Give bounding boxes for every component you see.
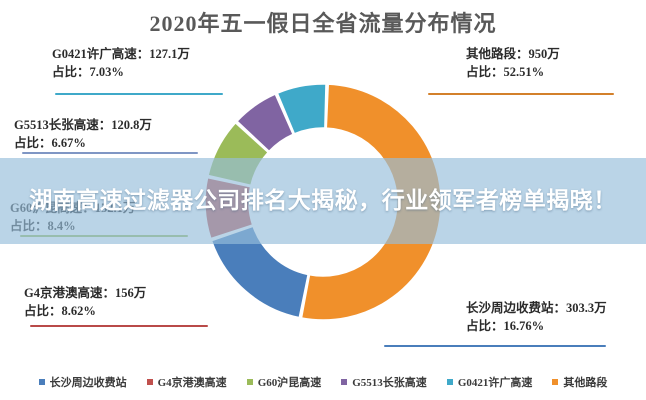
callout-changsha-percent: 占比：16.76% (466, 318, 607, 336)
legend-item[interactable]: 其他路段 (552, 374, 607, 390)
legend-item[interactable]: G4京港澳高速 (147, 374, 227, 390)
legend-item[interactable]: G0421许广高速 (447, 374, 533, 390)
legend-swatch-icon (341, 379, 347, 385)
page-title: 2020年五一假日全省流量分布情况 (0, 6, 646, 38)
chart-legend: 长沙周边收费站G4京港澳高速G60沪昆高速G5513长张高速G0421许广高速其… (0, 374, 646, 390)
callout-changsha-value: 长沙周边收费站：303.3万 (466, 300, 607, 318)
legend-item-label: G60沪昆高速 (258, 374, 322, 390)
legend-item-label: G5513长张高速 (352, 374, 427, 390)
leader-line-g0421 (55, 93, 223, 95)
legend-swatch-icon (447, 379, 453, 385)
leader-line-g4 (30, 325, 208, 327)
callout-g4: G4京港澳高速：156万 占比：8.62% (24, 285, 146, 321)
callout-g0421: G0421许广高速：127.1万 占比：7.03% (52, 46, 190, 82)
legend-item-label: G4京港澳高速 (158, 374, 227, 390)
legend-item-label: 长沙周边收费站 (50, 374, 127, 390)
overlay-banner: 湖南高速过滤器公司排名大揭秘，行业领军者榜单揭晓！ (0, 158, 646, 244)
callout-other-percent: 占比：52.51% (466, 64, 560, 82)
callout-g5513: G5513长张高速：120.8万 占比：6.67% (14, 117, 152, 153)
legend-swatch-icon (552, 379, 558, 385)
callout-g5513-value: G5513长张高速：120.8万 (14, 117, 152, 135)
callout-g0421-value: G0421许广高速：127.1万 (52, 46, 190, 64)
callout-g4-value: G4京港澳高速：156万 (24, 285, 146, 303)
legend-swatch-icon (39, 379, 45, 385)
legend-item[interactable]: 长沙周边收费站 (39, 374, 127, 390)
callout-g4-percent: 占比：8.62% (24, 303, 146, 321)
legend-swatch-icon (247, 379, 253, 385)
overlay-banner-text: 湖南高速过滤器公司排名大揭秘，行业领军者榜单揭晓！ (23, 186, 623, 216)
leader-line-g5513 (22, 152, 198, 154)
callout-other: 其他路段：950万 占比：52.51% (466, 46, 560, 82)
leader-line-changsha (384, 345, 606, 347)
chart-screenshot: 2020年五一假日全省流量分布情况 G0421许广高速：127.1万 占比：7.… (0, 0, 646, 400)
legend-item[interactable]: G60沪昆高速 (247, 374, 322, 390)
legend-swatch-icon (147, 379, 153, 385)
callout-g5513-percent: 占比：6.67% (14, 135, 152, 153)
callout-changsha: 长沙周边收费站：303.3万 占比：16.76% (466, 300, 607, 336)
leader-line-other (428, 93, 614, 95)
callout-other-value: 其他路段：950万 (466, 46, 560, 64)
legend-item[interactable]: G5513长张高速 (341, 374, 427, 390)
callout-g0421-percent: 占比：7.03% (52, 64, 190, 82)
legend-item-label: 其他路段 (563, 374, 607, 390)
legend-item-label: G0421许广高速 (458, 374, 533, 390)
